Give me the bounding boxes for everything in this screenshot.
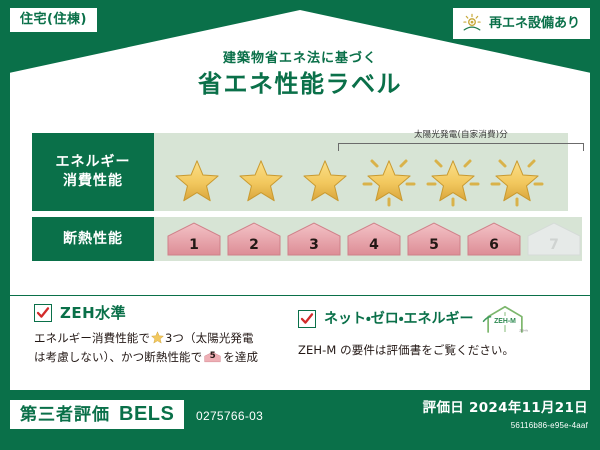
energy-performance-scale: 太陽光発電(自家消費)分	[154, 133, 568, 211]
insulation-grade-3: 3	[286, 222, 342, 256]
zeh-checkbox[interactable]	[34, 304, 52, 322]
nzeb-checkbox[interactable]	[298, 310, 316, 328]
star-1	[166, 149, 228, 205]
zeh-title: ZEH水準	[60, 306, 126, 321]
energy-label-line1: エネルギー	[56, 153, 131, 172]
grade-value: 7	[549, 237, 559, 253]
solar-generation-annotation: 太陽光発電(自家消費)分	[338, 131, 584, 151]
insulation-label-text: 断熱性能	[63, 230, 123, 249]
insulation-grade-4: 4	[346, 222, 402, 256]
zeh-desc-part2: は考慮しない）、かつ断熱性能で	[34, 350, 202, 364]
zeh-desc-part3: を達成	[223, 350, 258, 364]
building-type-text: 住宅(住棟)	[20, 12, 87, 27]
zeh-desc-grade-value: 5	[204, 351, 221, 362]
label-subtitle: 建築物省エネ法に基づく	[0, 52, 600, 65]
star-6-solar	[486, 149, 548, 205]
check-icon	[36, 306, 50, 320]
nzeb-criteria-block: ネット・ゼロ・エネルギー ZEH-M ZEH-M ZEH-M の要件は評価書をご…	[288, 296, 590, 390]
bels-logo-text: BELS	[119, 404, 174, 424]
energy-performance-label: 住宅(住棟) 再エネ設備あり 建築物省エネ法に基づく 省エネ性能ラベル エネルギ…	[0, 0, 600, 450]
insulation-grade-1: 1	[166, 222, 222, 256]
check-icon	[300, 312, 314, 326]
zeh-desc-part1: エネルギー消費性能で	[34, 331, 150, 345]
third-party-eval-label: 第三者評価	[20, 407, 110, 424]
evaluation-date: 評価日 2024年11月21日	[423, 402, 588, 416]
grade-value: 1	[189, 237, 199, 253]
label-title-block: 建築物省エネ法に基づく 省エネ性能ラベル	[0, 52, 600, 96]
evaluation-id: 56116b86-e95e-4aaf	[511, 422, 588, 430]
insulation-grade-2: 2	[226, 222, 282, 256]
mini-star-icon	[151, 331, 164, 344]
star-4-solar	[358, 149, 420, 205]
star-icon	[174, 159, 220, 203]
star-icon	[494, 159, 540, 203]
zeh-criteria-header: ZEH水準	[34, 304, 288, 322]
grade-value: 5	[429, 237, 439, 253]
insulation-grade-5: 5	[406, 222, 462, 256]
nzeb-title: ネット・ゼロ・エネルギー	[324, 312, 474, 326]
insulation-grade-7: 7	[526, 222, 582, 256]
solar-annotation-bracket	[338, 143, 584, 151]
star-icon	[430, 159, 476, 203]
svg-text:ZEH-M: ZEH-M	[519, 328, 528, 332]
energy-star-rating	[154, 149, 548, 205]
sun-icon	[461, 12, 483, 34]
nzeb-criteria-header: ネット・ゼロ・エネルギー ZEH-M ZEH-M	[298, 304, 590, 334]
star-icon	[366, 159, 412, 203]
grade-value: 6	[489, 237, 499, 253]
certificate-number: 0275766-03	[196, 409, 263, 423]
grade-value: 4	[369, 237, 379, 253]
star-5-solar	[422, 149, 484, 205]
label-footer: 第三者評価 BELS 0275766-03 評価日 2024年11月21日 56…	[0, 396, 600, 450]
insulation-performance-label: 断熱性能	[32, 217, 154, 261]
insulation-performance-row: 断熱性能 1	[32, 217, 568, 261]
zeh-desc-stars: 3つ（太陽光発電	[165, 331, 254, 345]
energy-performance-row: エネルギー 消費性能 太陽光発電(自家消費)分	[32, 133, 568, 211]
star-icon	[302, 159, 348, 203]
insulation-performance-scale: 1 2 3	[154, 217, 582, 261]
energy-performance-label: エネルギー 消費性能	[32, 133, 154, 211]
insulation-grade-6: 6	[466, 222, 522, 256]
star-icon	[238, 159, 284, 203]
energy-label-line2: 消費性能	[63, 172, 123, 191]
grade-value: 3	[309, 237, 319, 253]
zeh-desc-grade-badge: 5	[204, 350, 221, 364]
bels-badge: 第三者評価 BELS	[10, 400, 184, 429]
zeh-m-logo-icon: ZEH-M ZEH-M	[482, 304, 528, 334]
solar-annotation-text: 太陽光発電(自家消費)分	[338, 131, 584, 140]
renewable-equipment-badge: 再エネ設備あり	[453, 8, 590, 39]
insulation-grade-list: 1 2 3	[154, 222, 582, 256]
criteria-section: ZEH水準 エネルギー消費性能で3つ（太陽光発電は考慮しない）、かつ断熱性能で5…	[10, 296, 590, 390]
star-2	[230, 149, 292, 205]
star-3	[294, 149, 356, 205]
grade-value: 2	[249, 237, 259, 253]
svg-text:ZEH-M: ZEH-M	[494, 318, 516, 325]
label-main-title: 省エネ性能ラベル	[0, 72, 600, 96]
nzeb-description: ZEH-M の要件は評価書をご覧ください。	[298, 341, 590, 360]
renewable-equipment-text: 再エネ設備あり	[489, 17, 580, 30]
performance-rows: エネルギー 消費性能 太陽光発電(自家消費)分	[32, 133, 568, 267]
building-type-tag: 住宅(住棟)	[10, 8, 97, 32]
zeh-description: エネルギー消費性能で3つ（太陽光発電は考慮しない）、かつ断熱性能で5を達成	[34, 329, 288, 367]
zeh-criteria-block: ZEH水準 エネルギー消費性能で3つ（太陽光発電は考慮しない）、かつ断熱性能で5…	[10, 296, 288, 390]
